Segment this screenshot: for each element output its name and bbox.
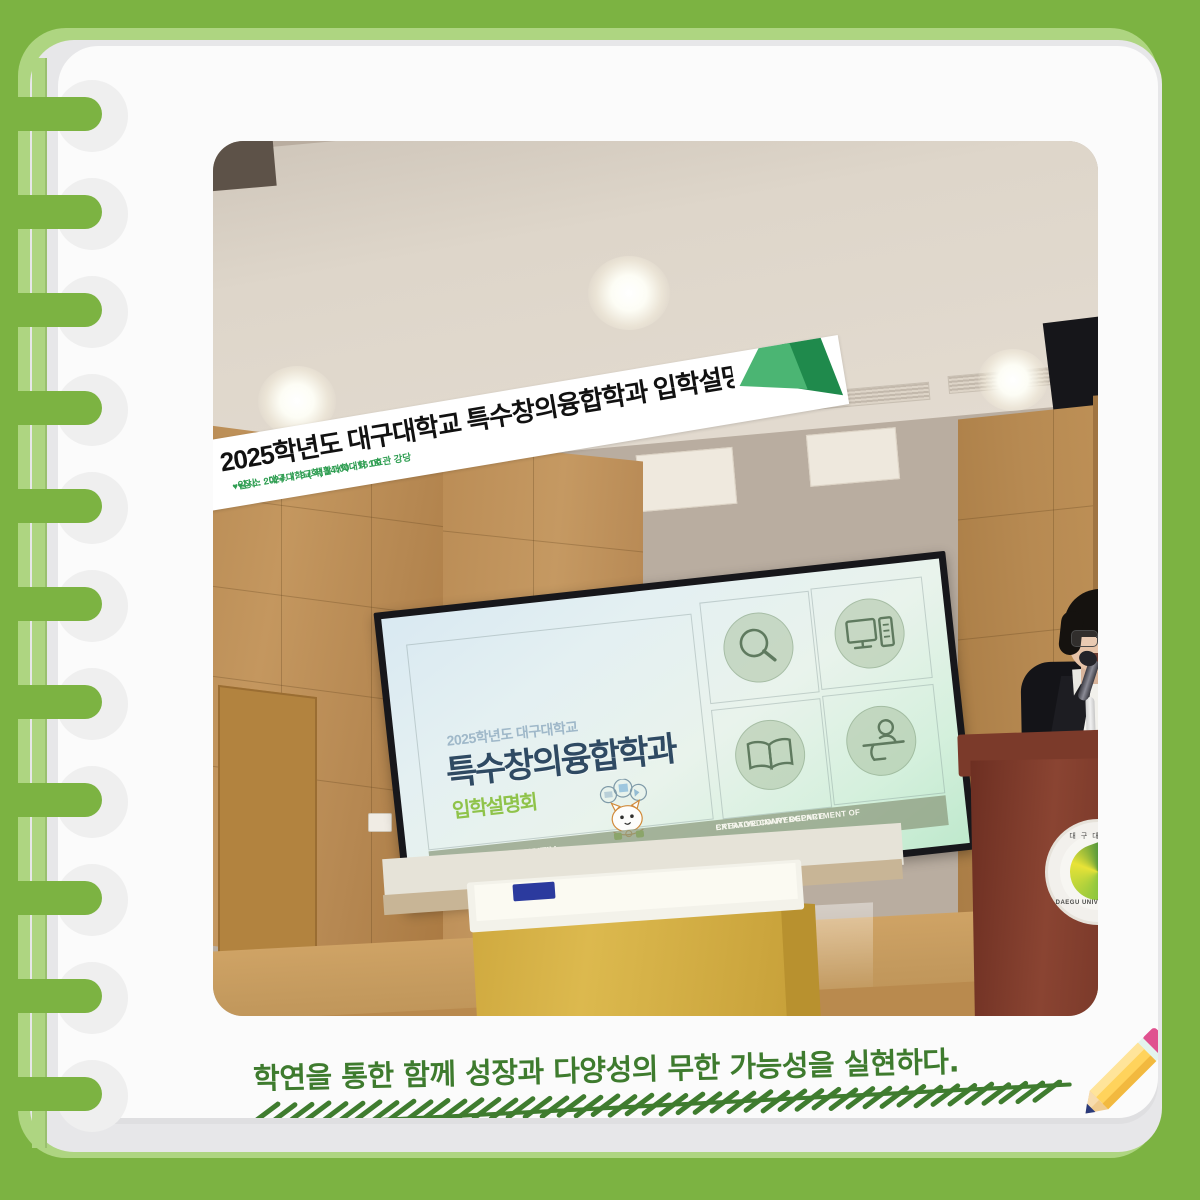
ceiling-light-icon <box>588 256 670 330</box>
ceiling-tile <box>806 427 900 487</box>
binding-ring <box>0 881 102 915</box>
banner-details: ♥일시 : 2024. 7. 9 (화) 14:00 - 16:00 ♥장소 :… <box>231 478 238 490</box>
emblem-korean-text: 대구대학교 <box>1048 831 1098 841</box>
notebook-paper: 2025학년도 대구대학교 특수창의융합학과 입학설명회 ♥일시 : 2024.… <box>58 46 1158 1118</box>
pencil-icon <box>1058 1011 1158 1118</box>
wall-outlet <box>368 813 392 832</box>
binding-ring <box>0 293 102 327</box>
page-root: 2025학년도 대구대학교 특수창의융합학과 입학설명회 ♥일시 : 2024.… <box>0 0 1200 1200</box>
event-photo: 2025학년도 대구대학교 특수창의융합학과 입학설명회 ♥일시 : 2024.… <box>213 141 1098 1016</box>
binding-ring <box>0 97 102 131</box>
glasses-bridge <box>1096 636 1098 638</box>
book-icon <box>732 716 809 793</box>
caption-block: 학연을 통한 함께 성장과 다양성의 무한 가능성을 실현하다. <box>213 1046 1093 1116</box>
ceiling-light-icon <box>978 349 1048 411</box>
binding-ring <box>0 587 102 621</box>
person-desk-icon <box>843 702 920 779</box>
binding-ring <box>0 195 102 229</box>
binding-ring <box>0 783 102 817</box>
monitor-icon <box>831 595 908 672</box>
magnifier-icon <box>720 609 797 686</box>
binding-ring <box>0 1077 102 1111</box>
binding-ring <box>0 979 102 1013</box>
hall-door <box>218 685 317 971</box>
glasses-icon <box>1071 630 1098 647</box>
binding-ring <box>0 685 102 719</box>
desk-sticker <box>512 882 555 902</box>
binding-ring <box>0 489 102 523</box>
ceiling-tile <box>636 447 738 512</box>
emblem-english-text: DAEGU UNIVERSITY 1956 <box>1048 900 1098 906</box>
spiral-binding <box>0 0 150 1200</box>
binding-ring <box>0 391 102 425</box>
